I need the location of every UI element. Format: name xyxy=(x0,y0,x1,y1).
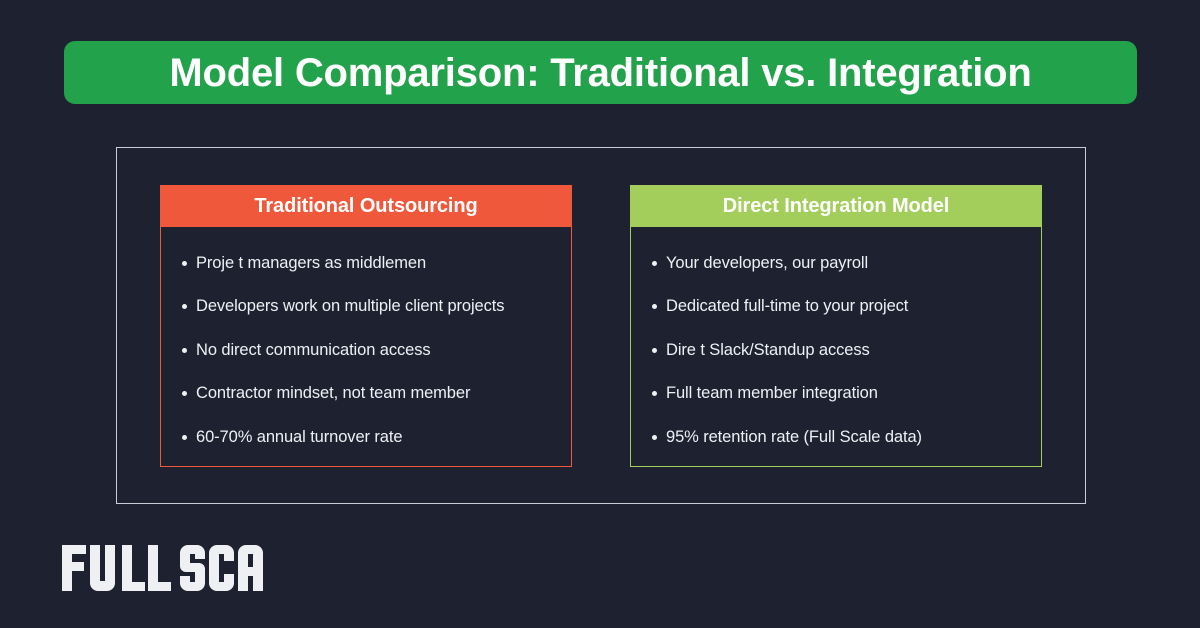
page-title: Model Comparison: Traditional vs. Integr… xyxy=(169,53,1031,93)
card-direct-integration-model: Direct Integration Model Your developers… xyxy=(630,185,1042,467)
list-item-label: No direct communication access xyxy=(196,340,431,361)
bullet-dot-icon xyxy=(182,435,187,440)
bullet-dot-icon xyxy=(652,261,657,266)
bullet-list-traditional: Proje t managers as middlemen Developers… xyxy=(161,253,571,448)
card-body-integration: Your developers, our payroll Dedicated f… xyxy=(630,227,1042,467)
card-body-traditional: Proje t managers as middlemen Developers… xyxy=(160,227,572,467)
list-item: Dedicated full-time to your project xyxy=(631,296,1041,317)
list-item-label: Dire t Slack/Standup access xyxy=(666,340,870,361)
card-header-traditional: Traditional Outsourcing xyxy=(160,185,572,227)
list-item-label: 60-70% annual turnover rate xyxy=(196,427,402,448)
bullet-dot-icon xyxy=(182,391,187,396)
list-item: 60-70% annual turnover rate xyxy=(161,427,571,448)
list-item: Full team member integration xyxy=(631,383,1041,404)
bullet-list-integration: Your developers, our payroll Dedicated f… xyxy=(631,253,1041,448)
list-item: Your developers, our payroll xyxy=(631,253,1041,274)
list-item: Dire t Slack/Standup access xyxy=(631,340,1041,361)
bullet-dot-icon xyxy=(652,348,657,353)
bullet-dot-icon xyxy=(182,348,187,353)
card-title-integration: Direct Integration Model xyxy=(723,196,950,216)
list-item-label: Developers work on multiple client proje… xyxy=(196,296,504,317)
bullet-dot-icon xyxy=(652,391,657,396)
list-item-label: Dedicated full-time to your project xyxy=(666,296,908,317)
list-item: No direct communication access xyxy=(161,340,571,361)
comparison-cards: Traditional Outsourcing Proje t managers… xyxy=(160,185,1042,467)
bullet-dot-icon xyxy=(652,435,657,440)
list-item-label: Contractor mindset, not team member xyxy=(196,383,470,404)
list-item-label: Full team member integration xyxy=(666,383,878,404)
list-item: Developers work on multiple client proje… xyxy=(161,296,571,317)
bullet-dot-icon xyxy=(652,304,657,309)
list-item: Contractor mindset, not team member xyxy=(161,383,571,404)
full-scale-wordmark-icon xyxy=(62,545,268,591)
card-header-integration: Direct Integration Model xyxy=(630,185,1042,227)
list-item: 95% retention rate (Full Scale data) xyxy=(631,427,1041,448)
list-item: Proje t managers as middlemen xyxy=(161,253,571,274)
card-traditional-outsourcing: Traditional Outsourcing Proje t managers… xyxy=(160,185,572,467)
full-scale-logo xyxy=(62,543,268,591)
list-item-label: 95% retention rate (Full Scale data) xyxy=(666,427,922,448)
bullet-dot-icon xyxy=(182,261,187,266)
list-item-label: Proje t managers as middlemen xyxy=(196,253,426,274)
card-title-traditional: Traditional Outsourcing xyxy=(254,196,477,216)
list-item-label: Your developers, our payroll xyxy=(666,253,868,274)
title-banner: Model Comparison: Traditional vs. Integr… xyxy=(64,41,1137,104)
bullet-dot-icon xyxy=(182,304,187,309)
